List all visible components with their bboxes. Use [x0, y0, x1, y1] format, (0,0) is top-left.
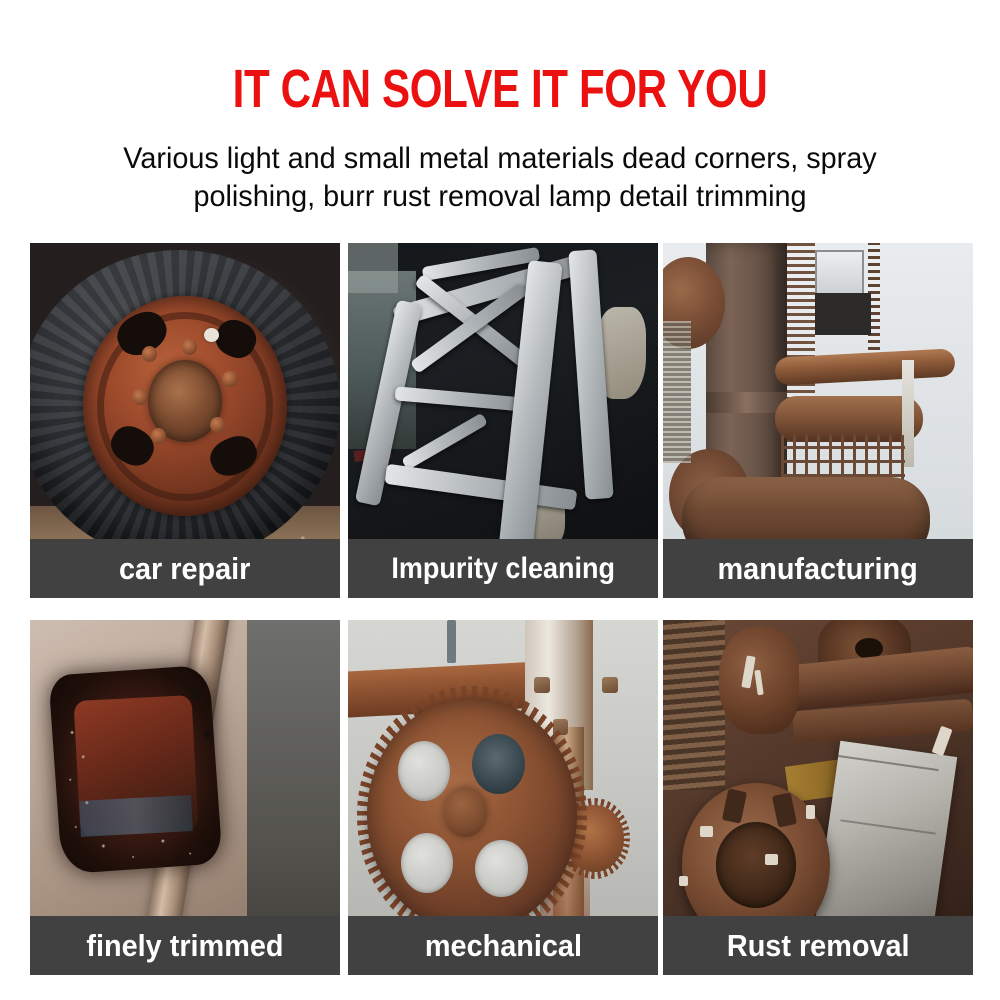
gallery-tile-manufacturing[interactable]: manufacturing [663, 243, 973, 598]
tile-caption-bar: car repair [30, 539, 340, 598]
gallery-tile-finely-trimmed[interactable]: finely trimmed [30, 620, 340, 975]
tile-caption-bar: Impurity cleaning [348, 539, 658, 598]
tile-caption-bar: mechanical [348, 916, 658, 975]
gallery-tile-rust-removal[interactable]: Rust removal [663, 620, 973, 975]
tile-caption-bar: manufacturing [663, 539, 973, 598]
infographic-page: IT CAN SOLVE IT FOR YOU Various light an… [0, 0, 1000, 1000]
tile-caption-label: Impurity cleaning [391, 553, 615, 584]
gallery-tile-mechanical[interactable]: mechanical [348, 620, 658, 975]
tile-caption-label: mechanical [424, 930, 581, 961]
tile-caption-label: car repair [119, 553, 250, 584]
tile-caption-bar: Rust removal [663, 916, 973, 975]
tile-caption-label: manufacturing [718, 553, 918, 584]
gallery-tile-car-repair[interactable]: car repair [30, 243, 340, 598]
image-gallery-grid: car repair Impurity cl [0, 0, 1000, 1000]
tile-caption-bar: finely trimmed [30, 916, 340, 975]
gallery-tile-impurity-cleaning[interactable]: Impurity cleaning [348, 243, 658, 598]
tile-caption-label: Rust removal [727, 930, 910, 961]
tile-caption-label: finely trimmed [86, 930, 283, 961]
